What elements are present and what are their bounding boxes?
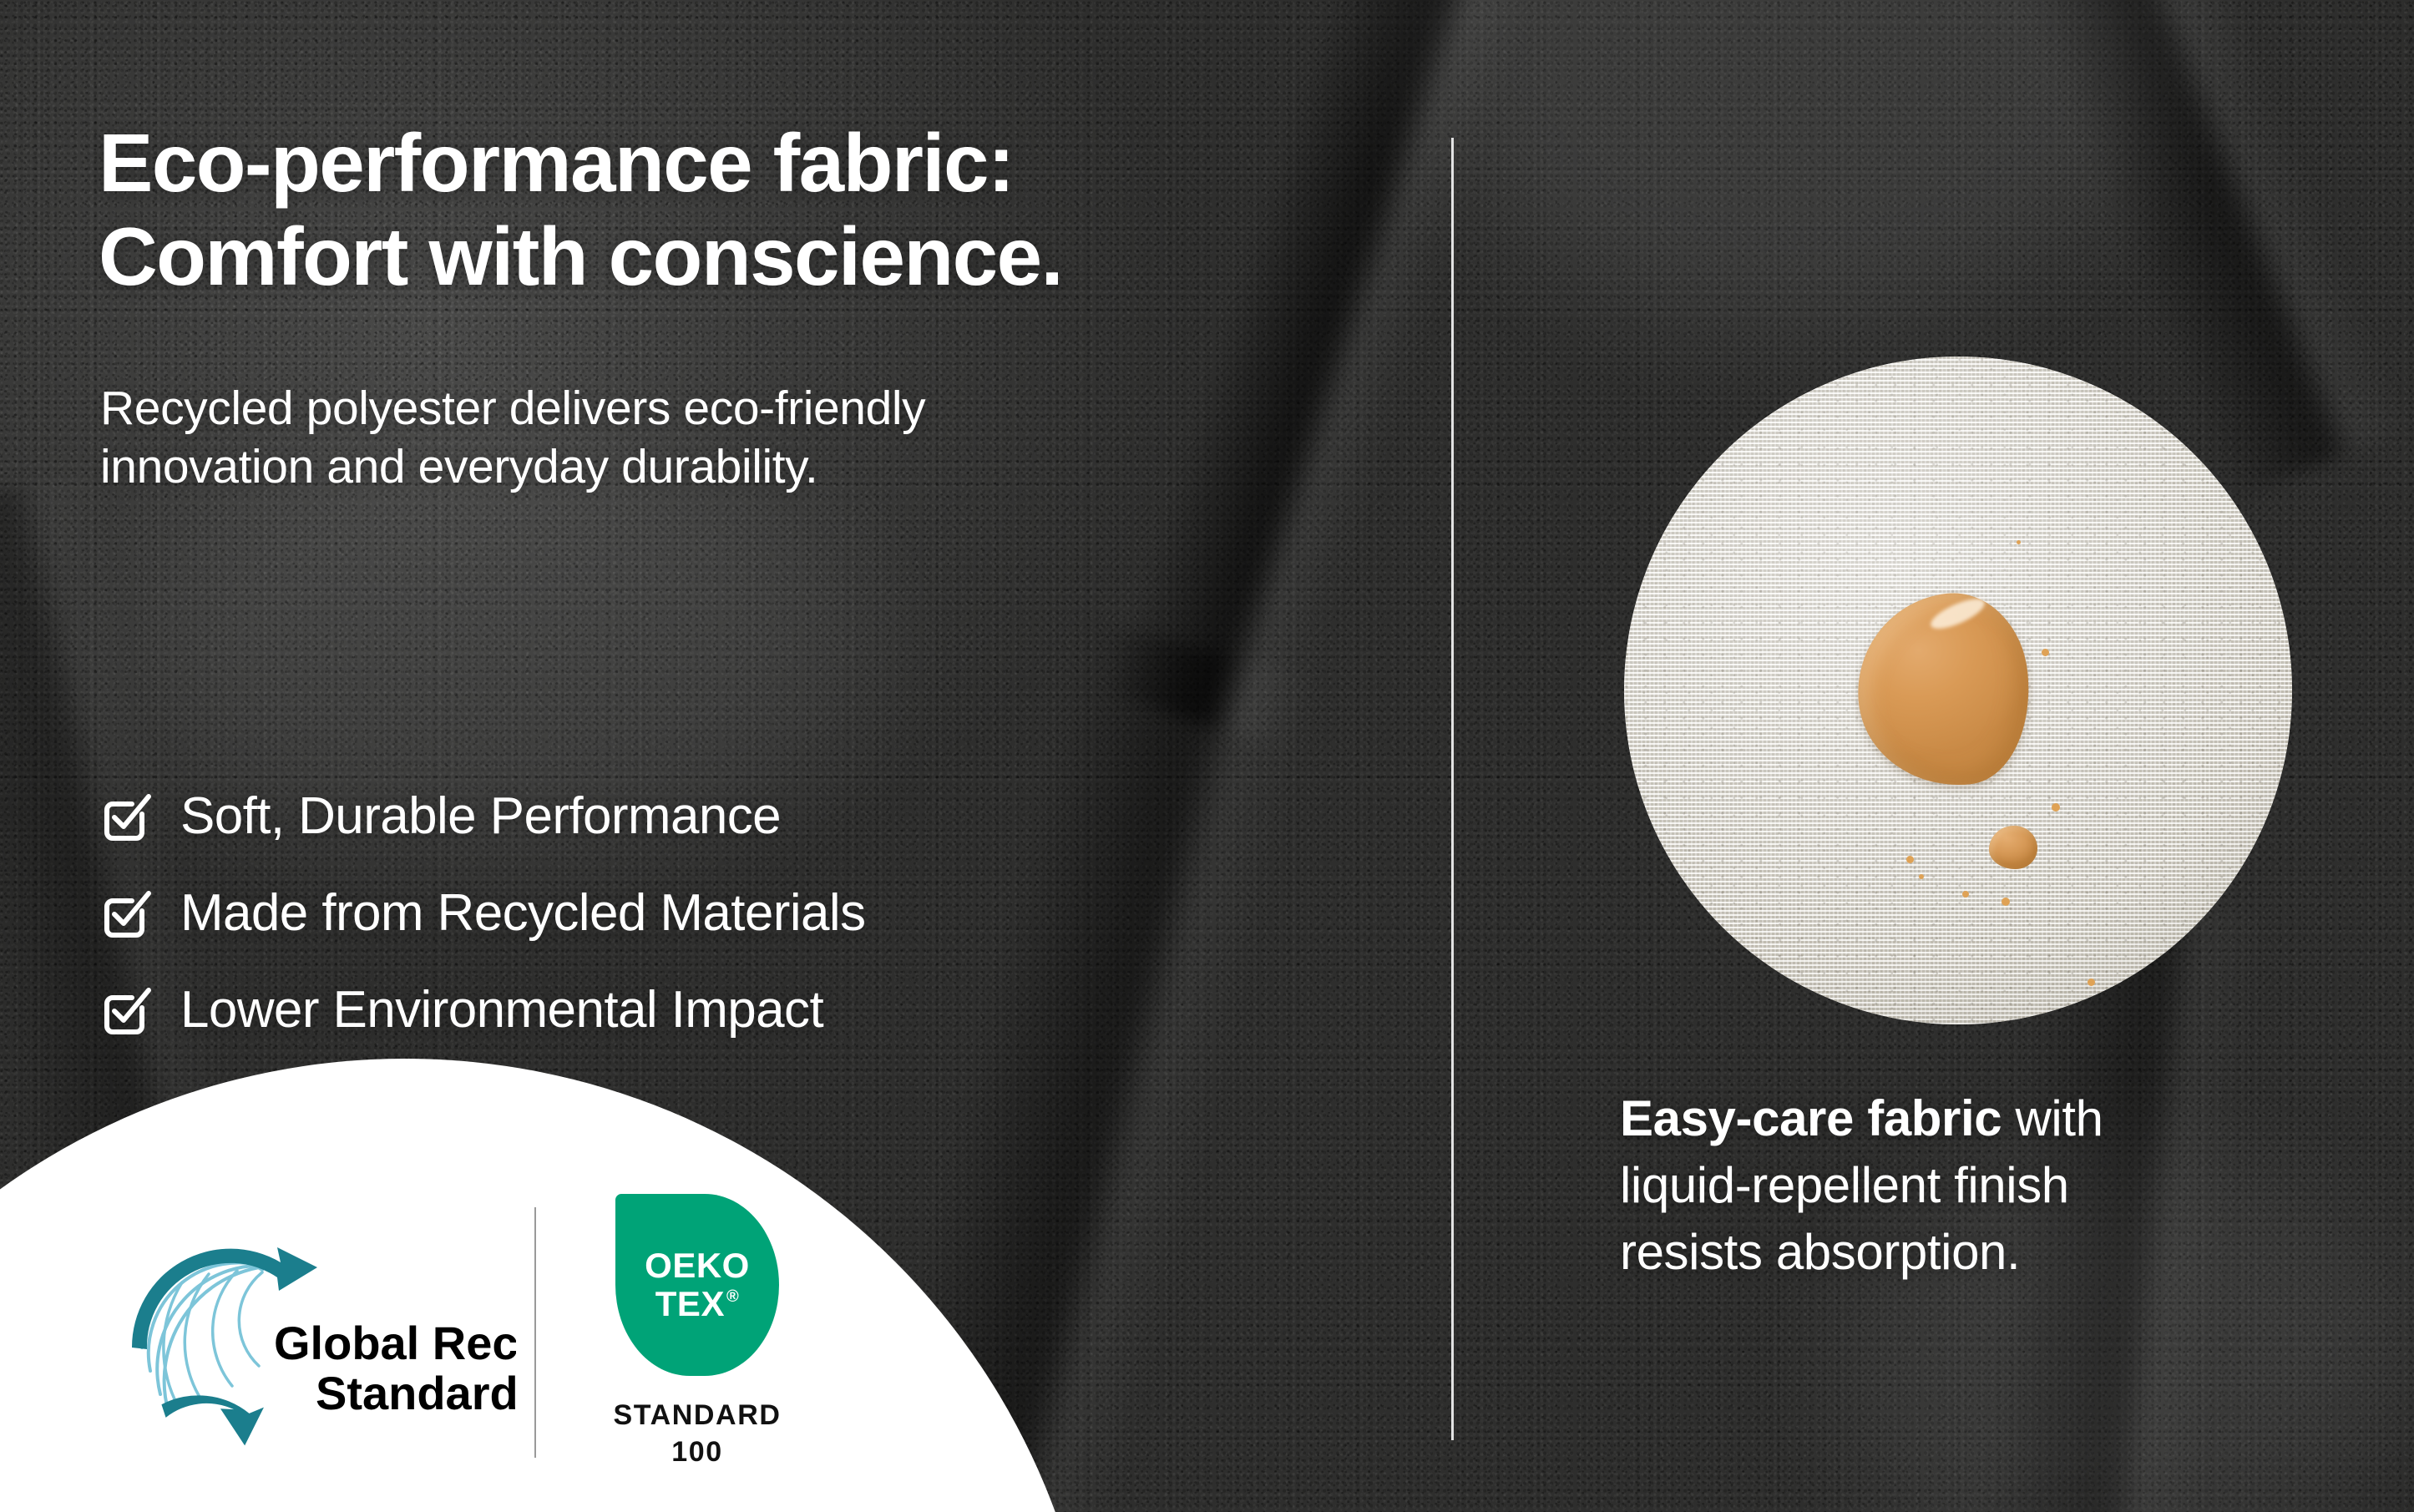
checkbox-checked-icon [99,986,150,1038]
grs-label-line-1: Global Recycled [274,1317,516,1369]
page-subtitle-line-1: Recycled polyester delivers eco-friendly [100,382,925,435]
liquid-speck [2017,540,2021,544]
promo-infographic: Eco-performance fabric: Comfort with con… [0,0,2414,1512]
feature-list-item-label: Soft, Durable Performance [180,791,781,842]
oeko-tex-brand-text: TEX [655,1287,725,1322]
checkbox-checked-icon [99,792,150,844]
vertical-divider [1451,138,1454,1440]
liquid-speck [2042,649,2049,656]
feature-list-item-label: Lower Environmental Impact [180,984,823,1036]
liquid-droplet-small [1989,826,2037,869]
feature-list-item: Soft, Durable Performance [99,768,865,865]
liquid-speck [1962,891,1969,898]
page-subtitle-line-2: innovation and everyday durability. [100,438,925,497]
grs-label-line-2: Standard [316,1367,516,1419]
global-recycled-standard-logo: Global Recycled Standard [99,1207,516,1458]
page-title-line-1: Eco-performance fabric: [99,117,1014,209]
liquid-speck [2002,898,2010,906]
liquid-speck [1919,874,1924,879]
page-subtitle: Recycled polyester delivers eco-friendly… [100,380,925,496]
page-title-line-2: Comfort with conscience. [99,210,1062,304]
registered-trademark-icon: ® [726,1288,739,1305]
swatch-caption-rest-line-1: with [2002,1090,2103,1146]
feature-list: Soft, Durable Performance Made from Recy… [99,768,865,1059]
oeko-tex-droplet-icon: OEKO TEX ® [615,1194,779,1376]
liquid-speck [2088,979,2095,986]
swatch-caption: Easy-care fabric with liquid-repellent f… [1620,1085,2355,1285]
checkbox-checked-icon [99,889,150,941]
feature-list-item: Made from Recycled Materials [99,865,865,962]
swatch-caption-line-2: liquid-repellent finish [1620,1157,2069,1213]
fabric-swatch-liquid-droplet-image [1624,357,2292,1024]
feature-list-item: Lower Environmental Impact [99,962,865,1059]
page-title: Eco-performance fabric: Comfort with con… [99,117,1062,303]
oeko-tex-standard-number: 100 [585,1434,810,1471]
liquid-speck [2052,803,2060,812]
certification-badges: Global Recycled Standard OEKO TEX ® STAN… [99,1194,810,1470]
oeko-tex-logo: OEKO TEX ® STANDARD 100 [585,1194,810,1470]
liquid-speck [1906,856,1914,863]
oeko-tex-standard-label: STANDARD [585,1398,810,1434]
swatch-caption-line-3: resists absorption. [1620,1224,2020,1280]
swatch-caption-bold: Easy-care fabric [1620,1090,2002,1146]
oeko-tex-brand-line-1: OEKO [645,1248,750,1283]
feature-list-item-label: Made from Recycled Materials [180,887,865,939]
badge-separator [534,1207,536,1458]
oeko-tex-brand-line-2: TEX ® [655,1287,739,1322]
